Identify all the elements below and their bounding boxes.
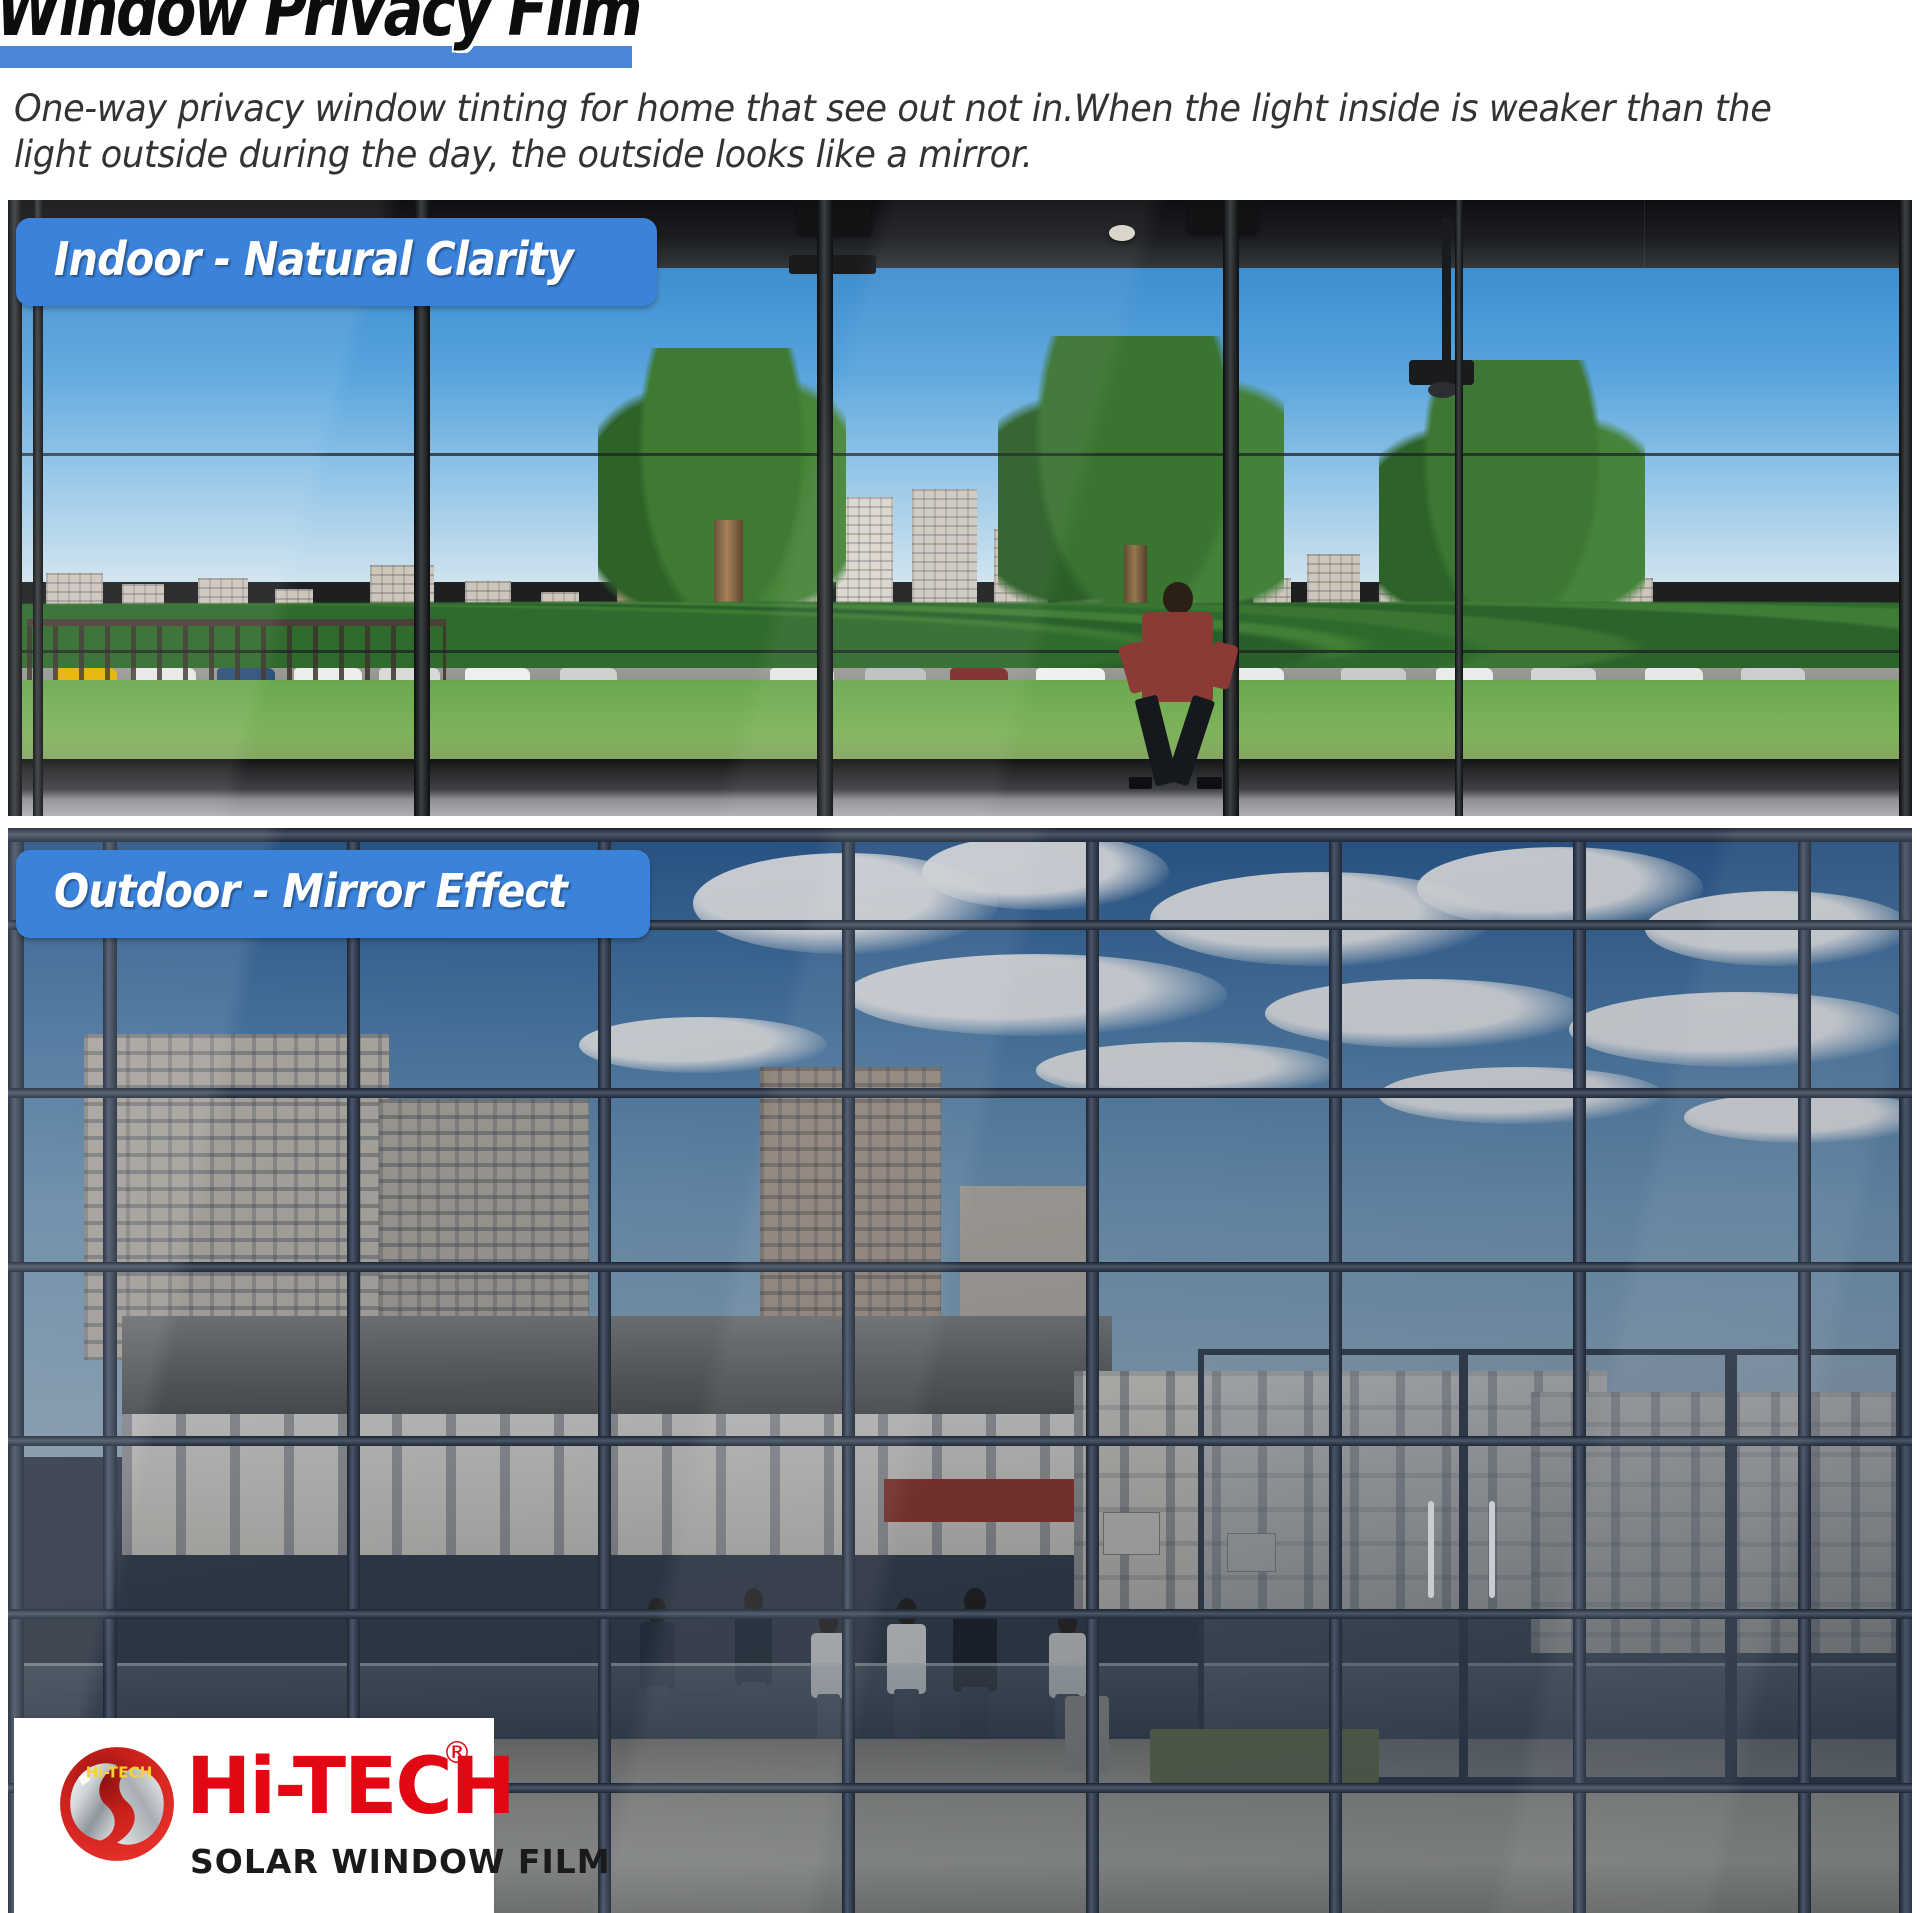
indoor-ceiling-light [1109, 225, 1136, 241]
indoor-label-badge: Indoor - Natural Clarity [16, 218, 657, 306]
indoor-window-sill [8, 759, 1912, 773]
outdoor-label-text: Outdoor - Mirror Effect [54, 864, 567, 918]
indoor-pedestrian [1122, 582, 1236, 785]
indoor-label-text: Indoor - Natural Clarity [54, 232, 573, 286]
hi-tech-emblem-icon: Hi-TECH [56, 1743, 178, 1865]
brand-logo: Hi-TECH Hi-TECH ® SOLAR WINDOW FILM [14, 1718, 494, 1913]
indoor-glazing-joint [8, 453, 1912, 456]
outdoor-label-badge: Outdoor - Mirror Effect [16, 850, 650, 938]
indoor-floor [8, 773, 1912, 816]
indoor-mullion [1899, 200, 1912, 816]
indoor-mullion [1455, 200, 1463, 816]
page-title: Window Privacy Film [0, 0, 700, 68]
brand-tagline: SOLAR WINDOW FILM [190, 1842, 611, 1881]
indoor-comparison-panel: Indoor - Natural Clarity [8, 200, 1912, 816]
registered-trademark-icon: ® [442, 1736, 472, 1771]
header-block: Window Privacy Film One-way privacy wind… [0, 0, 1920, 196]
indoor-mounted-camera-lens [1428, 382, 1457, 398]
indoor-ceiling-light [798, 207, 870, 234]
svg-text:Hi-TECH: Hi-TECH [86, 1764, 153, 1782]
page-title-text: Window Privacy Film [0, 0, 640, 52]
indoor-mullion [817, 200, 833, 816]
page-subtitle: One-way privacy window tinting for home … [14, 86, 1800, 178]
indoor-mounted-camera-arm [1442, 218, 1451, 366]
indoor-glazing-joint [8, 650, 1912, 653]
